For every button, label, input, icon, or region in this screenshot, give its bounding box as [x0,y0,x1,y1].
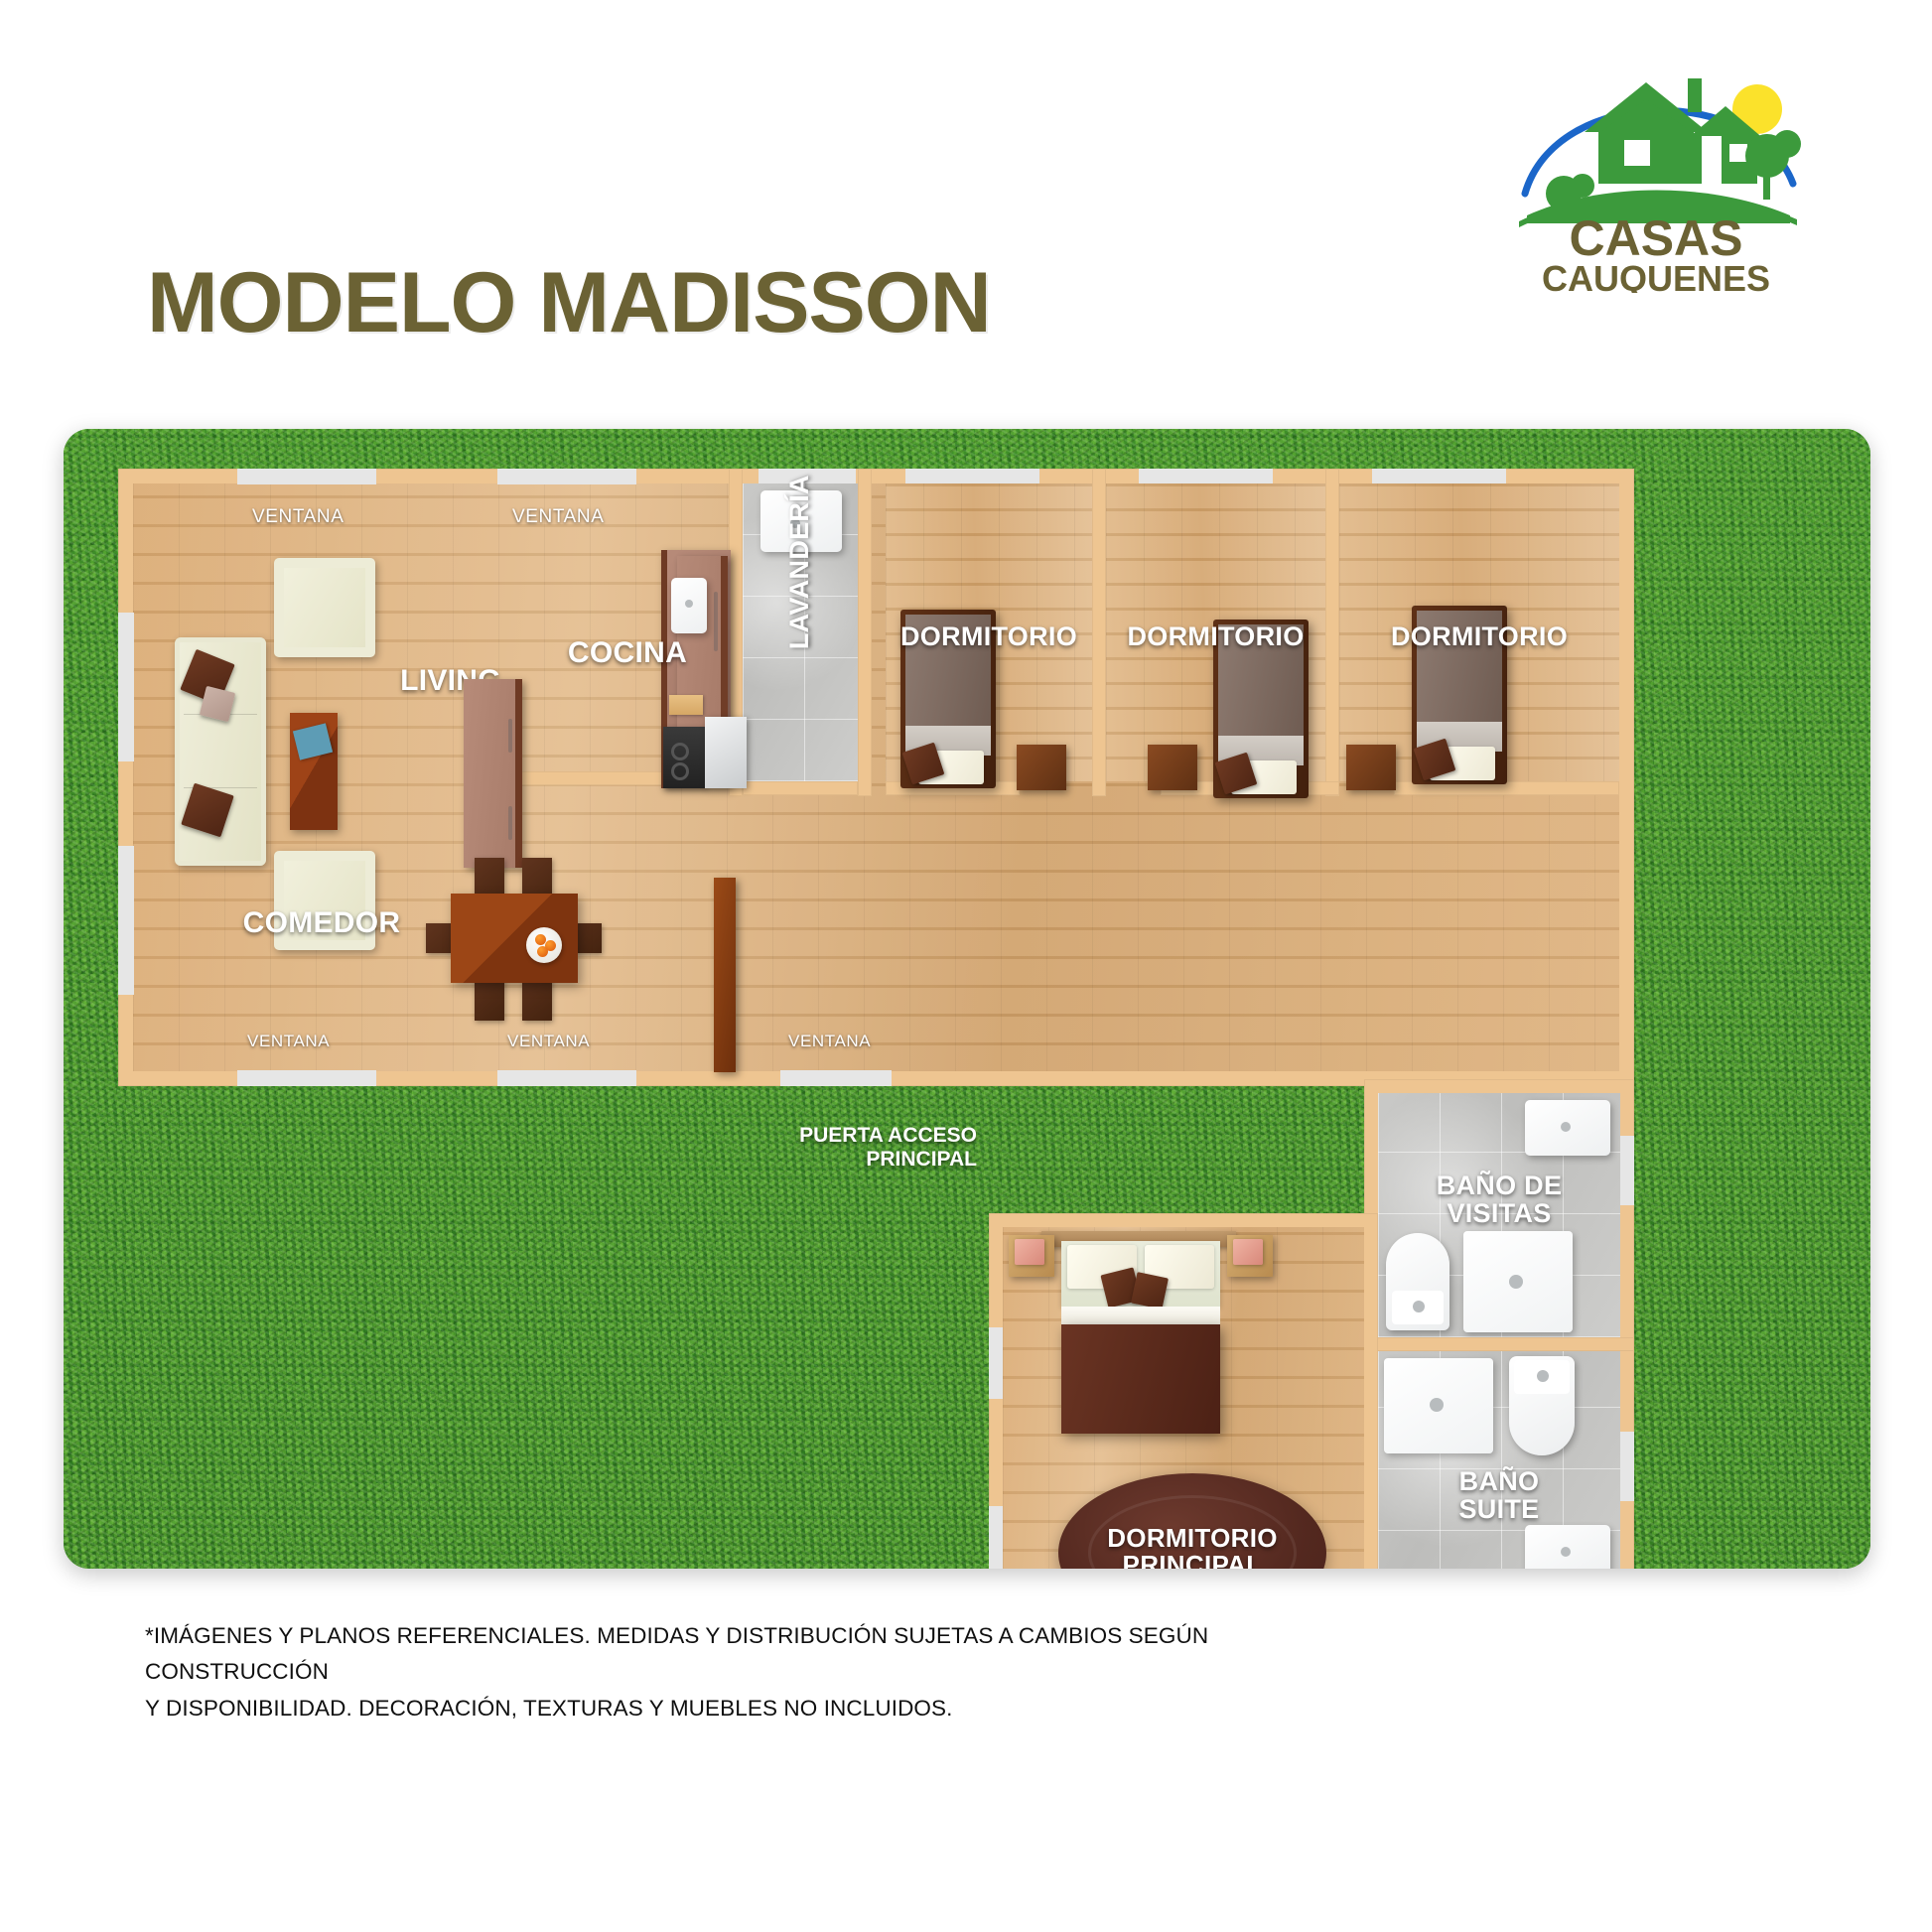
window-top-6 [1372,469,1506,484]
wall-baths-divider [1364,1337,1634,1351]
shower-bano-visitas [1463,1231,1573,1332]
window-top-1 [237,469,376,484]
window-label-1: VENTANA [252,506,345,528]
disclaimer-line-1: *IMÁGENES Y PLANOS REFERENCIALES. MEDIDA… [145,1618,1297,1691]
window-bottom-2 [497,1070,636,1086]
sink-bano-suite [1525,1525,1610,1569]
lamp-left [1015,1239,1044,1265]
sink-bano-visitas-top [1525,1100,1610,1156]
dining-table [451,894,578,983]
window-bano-visitas [1620,1136,1634,1205]
window-bottom-1 [237,1070,376,1086]
window-label-7: VENTANA [247,1032,330,1051]
main-entrance-door[interactable] [714,878,736,1072]
laundry-tub [760,490,842,552]
window-label-8: VENTANA [507,1032,590,1051]
wall-dorm1-east [1092,469,1106,796]
shower-bano-suite [1384,1358,1493,1453]
armchair-bottom [274,851,375,950]
wall-lavanderia-south [743,781,858,795]
window-left-2 [118,846,134,995]
nightstand-dorm1 [1017,745,1066,790]
coffee-table [290,713,338,830]
kitchen-sink [671,578,707,633]
main-door-label: PUERTA ACCESO PRINCIPAL [749,1124,977,1172]
kitchen-cabinet-island [464,679,522,868]
wall-lavanderia-east [858,469,872,796]
window-dormp-left-1 [989,1327,1003,1399]
bed-dorm3 [1412,606,1507,784]
disclaimer-line-2: Y DISPONIBILIDAD. DECORACIÓN, TEXTURAS Y… [145,1691,1297,1726]
window-top-4 [905,469,1039,484]
floor-plan: VENTANA VENTANA VENTANA VENTANA VENTANA … [64,429,1870,1569]
window-top-3 [759,469,856,484]
brand-logo: CASAS CAUQUENES [1507,45,1805,293]
window-label-9: VENTANA [788,1032,871,1051]
kitchen-appliance [705,717,747,788]
armchair-top [274,558,375,657]
lamp-right [1233,1239,1263,1265]
toilet-bano-visitas [1386,1233,1449,1330]
nightstand-dorm3 [1346,745,1396,790]
stove [663,727,707,788]
window-label-2: VENTANA [512,506,605,528]
bed-sheet-fold [1061,1307,1220,1324]
disclaimer: *IMÁGENES Y PLANOS REFERENCIALES. MEDIDA… [145,1618,1297,1726]
bed-dorm2 [1213,620,1309,798]
page-title: MODELO MADISSON [147,260,991,345]
bed-dorm1 [900,610,996,788]
window-top-5 [1139,469,1273,484]
wall-dorm2-east [1325,469,1339,796]
nightstand-dorm2 [1148,745,1197,790]
bed-cushion-2 [1131,1272,1169,1310]
window-dormp-left-2 [989,1506,1003,1569]
toilet-bano-suite [1509,1356,1575,1455]
window-left-1 [118,613,134,761]
window-bottom-3 [780,1070,892,1086]
bed-dorm-principal [1061,1324,1220,1434]
cutting-board [669,695,703,715]
brand-name-secondary: CAUQUENES [1542,258,1770,293]
window-top-2 [497,469,636,484]
window-bano-suite [1620,1432,1634,1501]
